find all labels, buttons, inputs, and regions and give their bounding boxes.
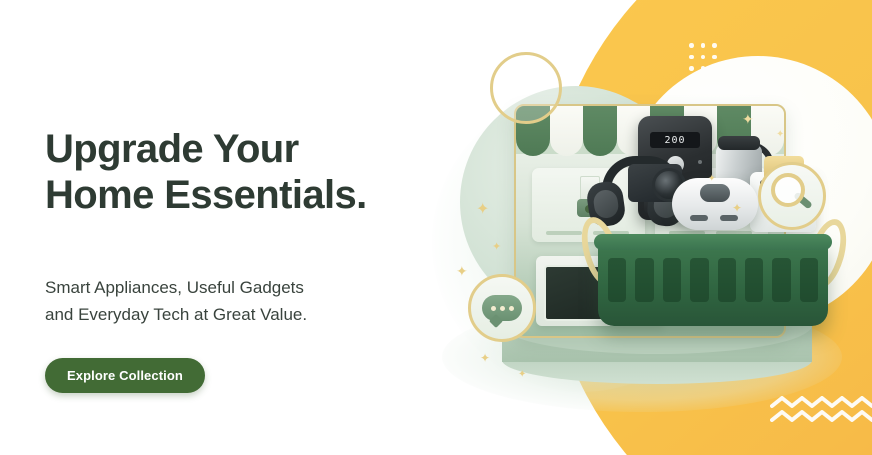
sparkle-icon: ✦ xyxy=(732,202,742,214)
sparkle-icon: ✦ xyxy=(742,112,754,126)
hero-illustration: 200 xyxy=(432,52,872,430)
sparkle-icon: ✦ xyxy=(776,130,784,140)
gold-ring-icon xyxy=(490,52,562,124)
sparkle-icon: ✦ xyxy=(476,202,489,218)
subtitle-line-2: and Everyday Tech at Great Value. xyxy=(45,305,307,324)
chat-badge-icon xyxy=(468,274,536,342)
banner-subtitle: Smart Appliances, Useful Gadgets and Eve… xyxy=(45,274,425,328)
headline-line-1: Upgrade Your xyxy=(45,127,299,171)
headline-line-2: Home Essentials. xyxy=(45,173,367,217)
sparkle-icon: ✦ xyxy=(492,242,501,253)
air-fryer-display: 200 xyxy=(664,135,685,146)
basket-body xyxy=(598,240,828,326)
subtitle-line-1: Smart Appliances, Useful Gadgets xyxy=(45,278,304,297)
basket-rim xyxy=(594,234,832,250)
headphones-icon xyxy=(592,156,678,232)
banner-content: Upgrade Your Home Essentials. Smart Appl… xyxy=(45,0,465,455)
sparkle-icon: ✦ xyxy=(708,174,716,183)
magnifier-icon xyxy=(758,162,826,230)
explore-collection-button[interactable]: Explore Collection xyxy=(45,358,205,393)
sparkle-icon: ✦ xyxy=(480,352,490,364)
page-title: Upgrade Your Home Essentials. xyxy=(45,126,445,218)
sparkle-icon: ✦ xyxy=(518,370,526,380)
promo-banner: 200 xyxy=(0,0,872,455)
robot-vacuum-icon xyxy=(672,178,758,230)
